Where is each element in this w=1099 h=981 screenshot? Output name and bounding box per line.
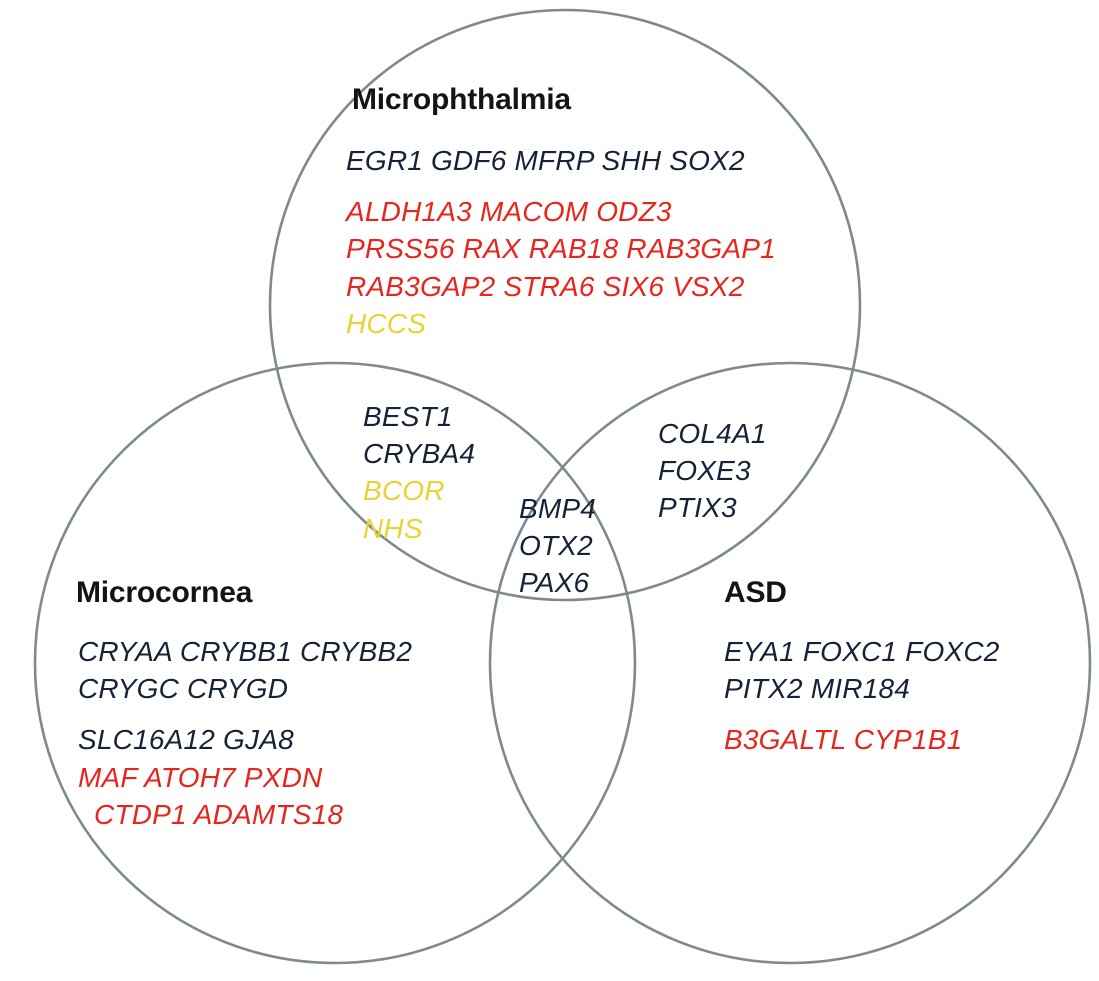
gene-line: CTDP1 ADAMTS18 (78, 796, 412, 833)
gene-line: SLC16A12 GJA8 (78, 721, 412, 758)
gene-list-all-three: BMP4 OTX2 PAX6 (519, 490, 596, 602)
spacer (724, 707, 1000, 721)
spacer (78, 707, 412, 721)
gene-line: PAX6 (519, 564, 596, 601)
gene-list-microphthalmia-asd: COL4A1 FOXE3 PTIX3 (658, 415, 767, 527)
gene-line: HCCS (346, 305, 776, 342)
spacer (346, 179, 776, 193)
gene-line: PRSS56 RAX RAB18 RAB3GAP1 (346, 230, 776, 267)
gene-list-microphthalmia: EGR1 GDF6 MFRP SHH SOX2 ALDH1A3 MACOM OD… (346, 142, 776, 342)
gene-line: OTX2 (519, 527, 596, 564)
gene-line: BMP4 (519, 490, 596, 527)
gene-line: MAF ATOH7 PXDN (78, 759, 412, 796)
gene-line: EYA1 FOXC1 FOXC2 (724, 633, 1000, 670)
set-title-microcornea: Microcornea (76, 578, 252, 608)
gene-line: PTIX3 (658, 489, 767, 526)
gene-line: BCOR (363, 472, 475, 509)
gene-list-microphthalmia-microcornea: BEST1 CRYBA4 BCOR NHS (363, 398, 475, 547)
set-title-asd: ASD (724, 578, 787, 608)
gene-line: BEST1 (363, 398, 475, 435)
gene-line: RAB3GAP2 STRA6 SIX6 VSX2 (346, 268, 776, 305)
gene-list-microcornea: CRYAA CRYBB1 CRYBB2 CRYGC CRYGD SLC16A12… (78, 633, 412, 833)
gene-line: CRYGC CRYGD (78, 670, 412, 707)
gene-line: B3GALTL CYP1B1 (724, 721, 1000, 758)
venn-text-layer: Microphthalmia EGR1 GDF6 MFRP SHH SOX2 A… (0, 0, 1099, 981)
gene-line: NHS (363, 510, 475, 547)
venn-diagram: Microphthalmia EGR1 GDF6 MFRP SHH SOX2 A… (0, 0, 1099, 981)
gene-line: FOXE3 (658, 452, 767, 489)
gene-line: CRYBA4 (363, 435, 475, 472)
gene-line: CRYAA CRYBB1 CRYBB2 (78, 633, 412, 670)
set-title-microphthalmia: Microphthalmia (352, 85, 571, 115)
gene-list-asd: EYA1 FOXC1 FOXC2 PITX2 MIR184 B3GALTL CY… (724, 633, 1000, 759)
gene-line: ALDH1A3 MACOM ODZ3 (346, 193, 776, 230)
gene-line: PITX2 MIR184 (724, 670, 1000, 707)
gene-line: EGR1 GDF6 MFRP SHH SOX2 (346, 142, 776, 179)
gene-line: COL4A1 (658, 415, 767, 452)
